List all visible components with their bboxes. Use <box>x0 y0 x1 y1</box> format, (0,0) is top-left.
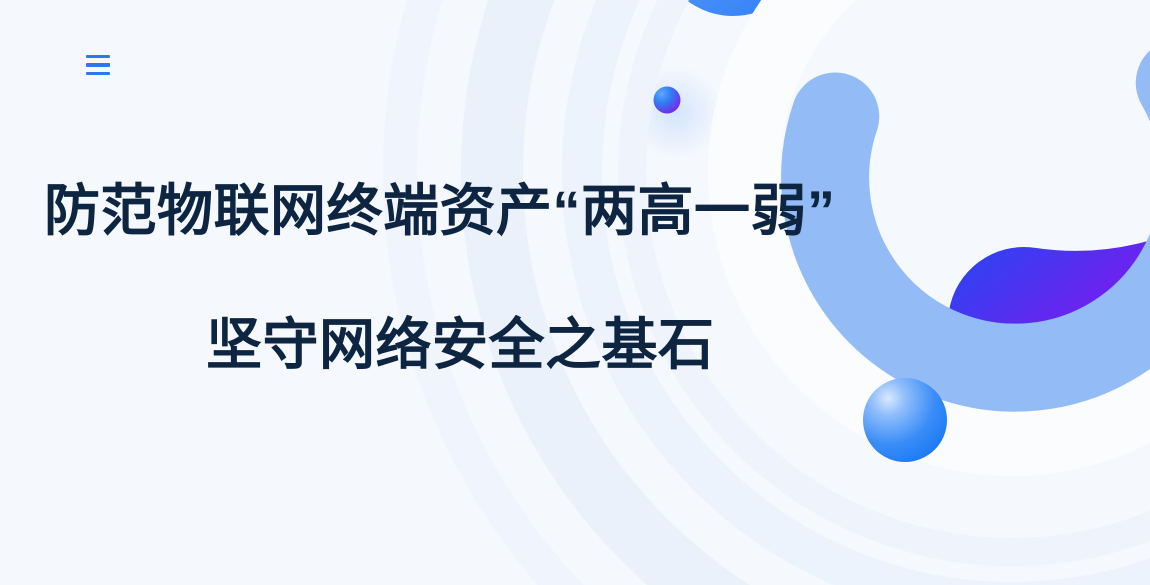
hamburger-menu-button[interactable] <box>78 48 118 82</box>
large-blue-sphere <box>863 378 947 462</box>
hamburger-menu-icon-bar-2 <box>86 63 110 67</box>
slide-canvas: 防范物联网终端资产“两高一弱” 坚守网络安全之基石 <box>0 0 1150 585</box>
page-title-line-2: 坚守网络安全之基石 <box>0 312 880 378</box>
small-sphere-glow <box>630 67 722 159</box>
page-title: 防范物联网终端资产“两高一弱” 坚守网络安全之基石 <box>0 178 880 378</box>
hamburger-menu-icon-bar-3 <box>86 72 110 76</box>
small-gradient-sphere <box>654 87 681 114</box>
hamburger-menu-icon-bar-1 <box>86 55 110 59</box>
page-title-line-1: 防范物联网终端资产“两高一弱” <box>0 178 880 244</box>
